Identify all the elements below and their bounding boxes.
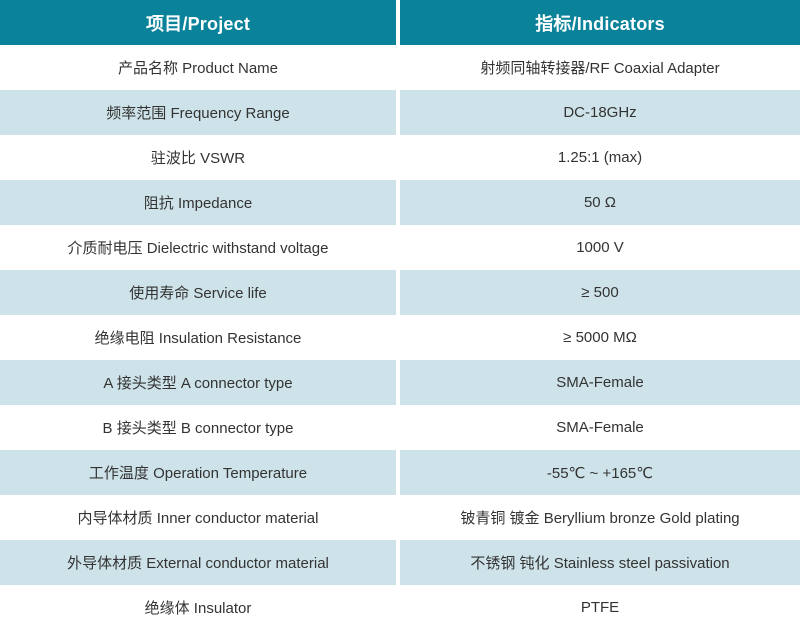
header-row: 项目/Project 指标/Indicators <box>0 0 800 45</box>
cell-indicator: 射频同轴转接器/RF Coaxial Adapter <box>400 45 800 90</box>
table-row: 绝缘电阻 Insulation Resistance≥ 5000 MΩ <box>0 315 800 360</box>
cell-project: 产品名称 Product Name <box>0 45 400 90</box>
table-row: 工作温度 Operation Temperature-55℃ ~ +165℃ <box>0 450 800 495</box>
cell-indicator: -55℃ ~ +165℃ <box>400 450 800 495</box>
cell-indicator: SMA-Female <box>400 405 800 450</box>
cell-project: 介质耐电压 Dielectric withstand voltage <box>0 225 400 270</box>
table-row: 驻波比 VSWR1.25:1 (max) <box>0 135 800 180</box>
cell-project: 内导体材质 Inner conductor material <box>0 495 400 540</box>
cell-indicator: 不锈钢 钝化 Stainless steel passivation <box>400 540 800 585</box>
cell-indicator: PTFE <box>400 585 800 630</box>
cell-project: 外导体材质 External conductor material <box>0 540 400 585</box>
table-row: 使用寿命 Service life≥ 500 <box>0 270 800 315</box>
cell-indicator: 1000 V <box>400 225 800 270</box>
cell-project: 工作温度 Operation Temperature <box>0 450 400 495</box>
cell-indicator: ≥ 500 <box>400 270 800 315</box>
cell-indicator: ≥ 5000 MΩ <box>400 315 800 360</box>
cell-indicator: SMA-Female <box>400 360 800 405</box>
cell-project: B 接头类型 B connector type <box>0 405 400 450</box>
cell-project: 绝缘电阻 Insulation Resistance <box>0 315 400 360</box>
table-row: B 接头类型 B connector typeSMA-Female <box>0 405 800 450</box>
column-header-project: 项目/Project <box>0 0 400 45</box>
table-row: 绝缘体 InsulatorPTFE <box>0 585 800 630</box>
cell-project: 使用寿命 Service life <box>0 270 400 315</box>
table-row: A 接头类型 A connector typeSMA-Female <box>0 360 800 405</box>
cell-project: 绝缘体 Insulator <box>0 585 400 630</box>
table-row: 外导体材质 External conductor material不锈钢 钝化 … <box>0 540 800 585</box>
table-header: 项目/Project 指标/Indicators <box>0 0 800 45</box>
table-body: 产品名称 Product Name射频同轴转接器/RF Coaxial Adap… <box>0 45 800 630</box>
cell-indicator: DC-18GHz <box>400 90 800 135</box>
cell-project: 驻波比 VSWR <box>0 135 400 180</box>
table-row: 产品名称 Product Name射频同轴转接器/RF Coaxial Adap… <box>0 45 800 90</box>
table-row: 阻抗 Impedance50 Ω <box>0 180 800 225</box>
specification-table: 项目/Project 指标/Indicators 产品名称 Product Na… <box>0 0 800 630</box>
table-row: 介质耐电压 Dielectric withstand voltage1000 V <box>0 225 800 270</box>
table-row: 频率范围 Frequency RangeDC-18GHz <box>0 90 800 135</box>
cell-indicator: 铍青铜 镀金 Beryllium bronze Gold plating <box>400 495 800 540</box>
column-header-indicators: 指标/Indicators <box>400 0 800 45</box>
cell-project: 阻抗 Impedance <box>0 180 400 225</box>
cell-project: 频率范围 Frequency Range <box>0 90 400 135</box>
table-row: 内导体材质 Inner conductor material铍青铜 镀金 Ber… <box>0 495 800 540</box>
cell-indicator: 1.25:1 (max) <box>400 135 800 180</box>
cell-indicator: 50 Ω <box>400 180 800 225</box>
cell-project: A 接头类型 A connector type <box>0 360 400 405</box>
